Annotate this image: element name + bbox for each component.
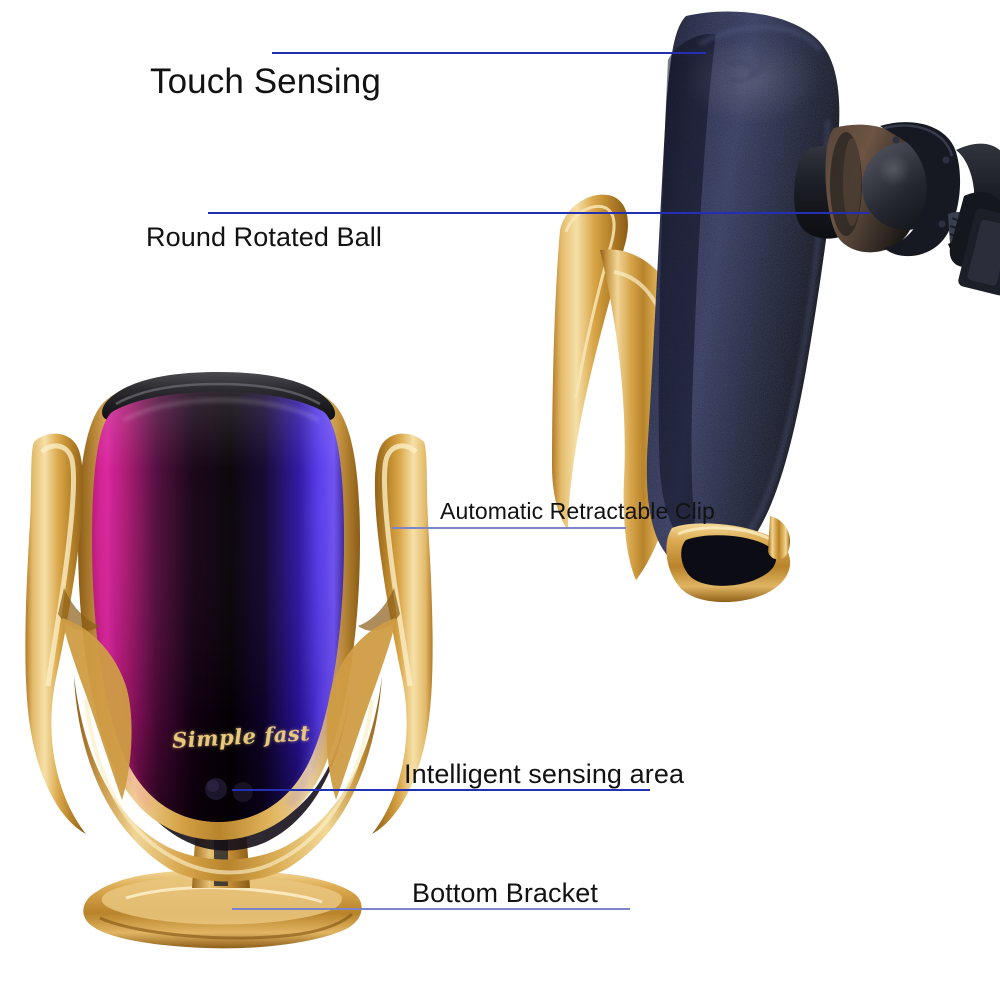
callout-touch-sensing: Touch Sensing <box>150 64 381 99</box>
leader-line-sensing-area <box>232 789 650 791</box>
brand-logo-simple-fast: Simple fast <box>171 720 311 753</box>
callout-round-rotated-ball: Round Rotated Ball <box>146 224 382 251</box>
callout-intelligent-sensing-area: Intelligent sensing area <box>404 761 684 788</box>
front-view-charger-group <box>25 372 432 948</box>
callout-automatic-retractable-clip: Automatic Retractable Clip <box>440 500 715 523</box>
leader-line-retractable-clip <box>392 527 626 529</box>
leader-line-round-rotated-ball <box>208 212 870 214</box>
callout-bottom-bracket: Bottom Bracket <box>412 880 598 907</box>
leader-line-bottom-bracket <box>232 908 630 910</box>
leader-line-touch-sensing <box>272 52 706 54</box>
infographic-canvas: Touch Sensing Round Rotated Ball Automat… <box>0 0 1000 1000</box>
